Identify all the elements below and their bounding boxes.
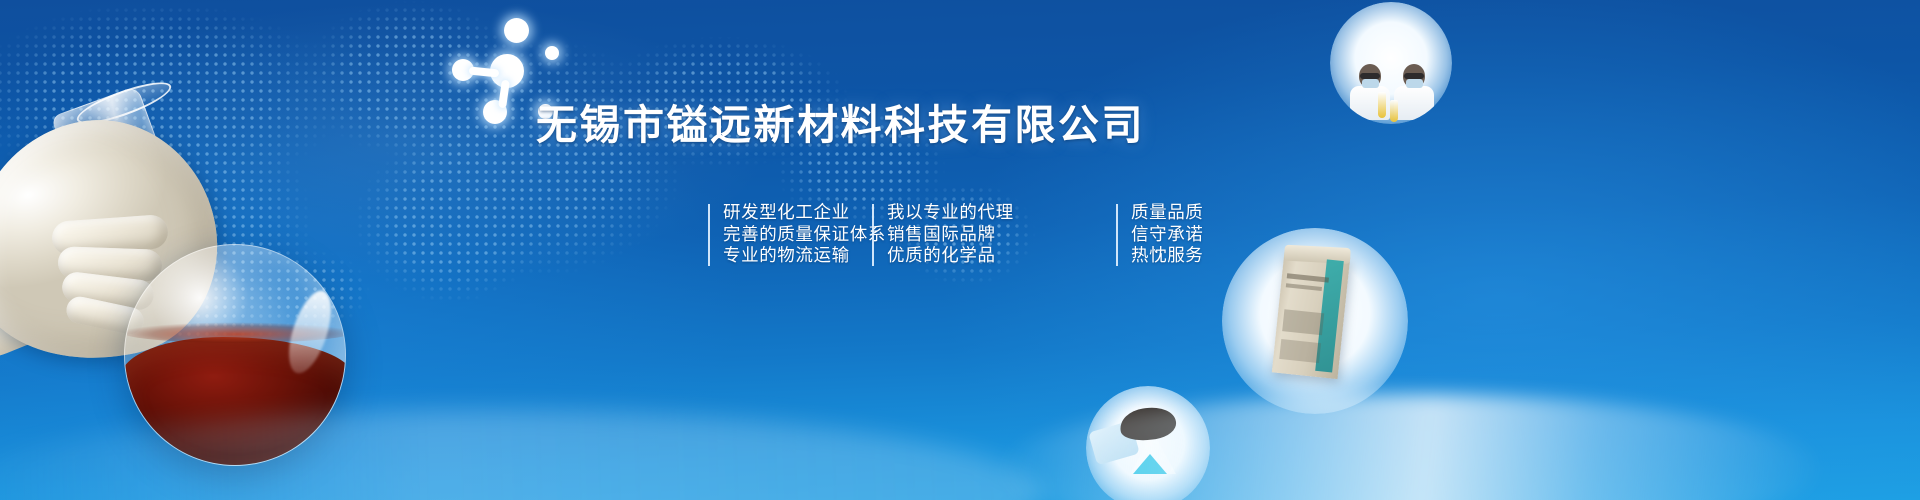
page-title: 无锡市镒远新材料科技有限公司 — [536, 91, 1145, 151]
resin-sack-photo — [1222, 228, 1408, 414]
sack-print-block — [1282, 309, 1324, 335]
test-tube-icon — [1378, 92, 1386, 118]
slogan-line: 信守承诺 — [1131, 224, 1266, 246]
slogan-line: 质量品质 — [1131, 202, 1266, 224]
lab-scientists-photo — [1330, 2, 1452, 124]
company-banner: 无锡市镒远新材料科技有限公司 研发型化工企业 完善的质量保证体系 专业的物流运输… — [0, 0, 1920, 500]
scientist-head — [1359, 64, 1381, 88]
sack-print-line — [1286, 283, 1322, 291]
slogan-line: 完善的质量保证体系 — [723, 224, 828, 246]
round-bottom-flask — [124, 244, 346, 466]
slogan-columns: 研发型化工企业 完善的质量保证体系 专业的物流运输 我以专业的代理 销售国际品牌… — [708, 202, 1266, 267]
column-divider-bar — [872, 204, 874, 266]
test-tube-icon — [1390, 100, 1398, 122]
cyan-liquid — [1133, 454, 1167, 474]
slogan-column-rd-chemical: 研发型化工企业 完善的质量保证体系 专业的物流运输 — [708, 202, 828, 267]
flask-in-gloved-hand-photo — [0, 96, 348, 500]
column-divider-bar — [1116, 204, 1118, 266]
lab-coat — [1394, 86, 1434, 120]
hand-with-erlenmeyer-photo — [1086, 386, 1210, 500]
chemical-sack-package — [1272, 251, 1350, 379]
face-mask-icon — [1406, 79, 1423, 88]
scientist-figure — [1394, 64, 1434, 120]
slogan-line: 研发型化工企业 — [723, 202, 828, 224]
slogan-line: 专业的物流运输 — [723, 245, 828, 267]
sack-print-line — [1287, 273, 1329, 282]
scientist-head — [1403, 64, 1425, 88]
column-divider-bar — [708, 204, 710, 266]
slogan-line: 我以专业的代理 — [887, 202, 1072, 224]
sack-print-block — [1279, 339, 1321, 363]
slogan-column-agency-brands: 我以专业的代理 销售国际品牌 优质的化学品 — [872, 202, 1072, 267]
face-mask-icon — [1362, 79, 1379, 88]
slogan-line: 销售国际品牌 — [887, 224, 1072, 246]
slogan-column-quality-service: 质量品质 信守承诺 热忱服务 — [1116, 202, 1266, 267]
slogan-line: 优质的化学品 — [887, 245, 1072, 267]
